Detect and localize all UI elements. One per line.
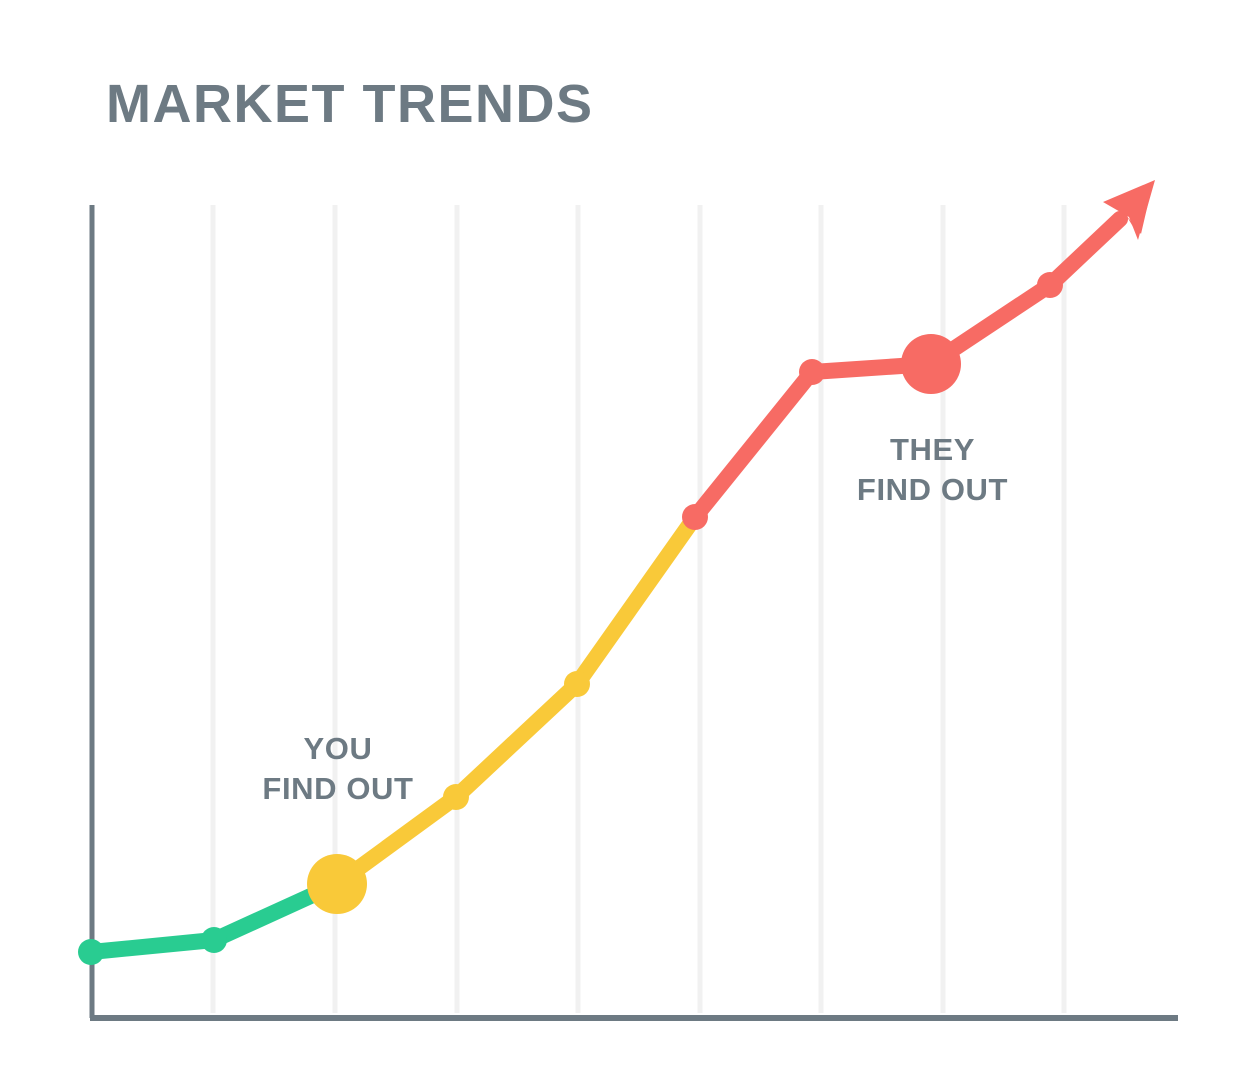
market-trends-line-chart: [0, 0, 1245, 1080]
data-point-marker-you-find-out[interactable]: [307, 854, 367, 914]
annotation-they-find-out: THEY FIND OUT: [830, 430, 1035, 509]
annotation-you-find-out: YOU FIND OUT: [238, 729, 438, 808]
data-point-markers: [78, 272, 1063, 965]
data-point-marker-they-find-out[interactable]: [901, 334, 961, 394]
data-point-marker[interactable]: [1037, 272, 1063, 298]
data-point-marker[interactable]: [564, 671, 590, 697]
data-point-marker[interactable]: [799, 359, 825, 385]
trend-segment-yellow: [337, 517, 695, 884]
data-point-marker[interactable]: [201, 927, 227, 953]
data-point-marker[interactable]: [682, 504, 708, 530]
chart-canvas: MARKET TRENDS: [0, 0, 1245, 1080]
data-point-marker[interactable]: [443, 784, 469, 810]
data-point-marker[interactable]: [78, 939, 104, 965]
